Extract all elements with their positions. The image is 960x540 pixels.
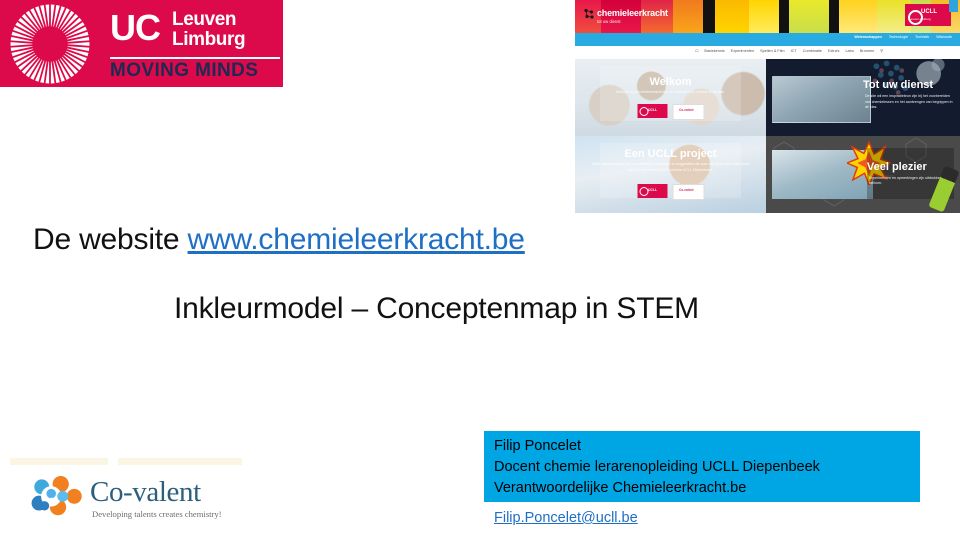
website-link[interactable]: www.chemieleerkracht.be bbox=[188, 223, 525, 256]
ucll-limburg-text: Limburg bbox=[172, 30, 245, 49]
site-main-nav-items[interactable]: ☖ Basiskennis Experimenten Spellen & Fil… bbox=[695, 49, 883, 54]
badge-sub: Leuven-Limburg bbox=[909, 18, 931, 21]
site-main-nav-item-7[interactable]: Bronnen bbox=[860, 49, 874, 54]
card-logos-ucll-project: UCLL Co-valent bbox=[637, 184, 704, 200]
card-title-tot-uw-dienst: Tot uw dienst bbox=[863, 79, 960, 91]
site-main-nav-item-1[interactable]: Experimenten bbox=[731, 49, 754, 54]
card-title-welkom: Welkom bbox=[575, 76, 766, 88]
ucll-divider bbox=[110, 57, 280, 59]
site-top-nav-item-1[interactable]: Technologie bbox=[889, 35, 908, 39]
site-main-nav-item-6[interactable]: Labo bbox=[845, 49, 853, 54]
molecule-icon bbox=[583, 8, 595, 20]
site-brand-name: chemieleerkracht bbox=[597, 8, 668, 18]
ucll-leuven-text: Leuven bbox=[172, 10, 236, 29]
ucll-tagline: MOVING MINDS bbox=[110, 61, 258, 81]
card-title-veel-plezier: Veel plezier bbox=[867, 161, 954, 173]
mini-ucll-logo: UCLL bbox=[637, 104, 667, 118]
site-top-nav-items[interactable]: Wetenschappen Technologie Techniek Wisku… bbox=[854, 35, 952, 39]
contact-role: Docent chemie lerarenopleiding UCLL Diep… bbox=[484, 457, 920, 478]
contact-email-link[interactable]: Filip.Poncelet@ucll.be bbox=[494, 509, 638, 528]
covalent-tagline: Developing talents creates chemistry! bbox=[92, 509, 222, 519]
site-cards: Welkom Welkom bij chemieleerkracht.be, e… bbox=[575, 59, 960, 213]
card-body-tot-uw-dienst: De site wil een inspiratiebron zijn bij … bbox=[865, 94, 954, 110]
mini-covalent-logo: Co-valent bbox=[672, 184, 704, 200]
badge-name: UCLL bbox=[921, 9, 937, 15]
site-banner: chemieleerkracht tot uw dienst UCLL Leuv… bbox=[575, 0, 960, 33]
radial-sunburst-icon bbox=[8, 2, 92, 86]
contact-responsibility: Verantwoordelijke Chemieleerkracht.be bbox=[484, 478, 920, 499]
mini-covalent-logo: Co-valent bbox=[672, 104, 704, 120]
covalent-top-strip bbox=[10, 458, 242, 465]
contact-name: Filip Poncelet bbox=[484, 431, 920, 457]
covalent-name: Co-valent bbox=[90, 476, 201, 508]
site-main-nav-item-4[interactable]: Combinatie bbox=[803, 49, 822, 54]
site-card-tot-uw-dienst[interactable]: Tot uw dienst De site wil een inspiratie… bbox=[766, 59, 960, 136]
card-photo-lab bbox=[772, 76, 871, 123]
site-main-nav-item-0[interactable]: Basiskennis bbox=[704, 49, 724, 54]
site-main-nav-item-3[interactable]: ICT bbox=[791, 49, 797, 54]
molecule-cluster-icon bbox=[30, 476, 86, 518]
contact-info-box: Filip Poncelet Docent chemie lerarenople… bbox=[484, 431, 920, 502]
site-main-nav-item-5[interactable]: Extra's bbox=[828, 49, 840, 54]
card-title-ucll-project: Een UCLL project bbox=[575, 148, 766, 160]
ucll-wordmark: UC Leuven Limburg bbox=[110, 8, 280, 56]
slide-line-1: De website www.chemieleerkracht.be bbox=[33, 221, 525, 259]
card-body-welkom: Welkom bij chemieleerkracht.be, een part… bbox=[590, 90, 750, 95]
card-logos-welkom: UCLL Co-valent bbox=[637, 104, 704, 120]
card-body-ucll-project: Deze website bevat heel wat didactisch m… bbox=[590, 162, 750, 173]
site-top-nav-item-2[interactable]: Techniek bbox=[915, 35, 929, 39]
site-brand-tagline: tot uw dienst bbox=[597, 19, 621, 24]
site-top-nav-item-3[interactable]: Wiskunde bbox=[936, 35, 952, 39]
site-card-ucll-project[interactable]: Een UCLL project Deze website bevat heel… bbox=[575, 136, 766, 213]
site-top-navbar: Wetenschappen Technologie Techniek Wisku… bbox=[575, 33, 960, 46]
website-screenshot: chemieleerkracht tot uw dienst UCLL Leuv… bbox=[575, 0, 960, 213]
covalent-logo: Co-valent Developing talents creates che… bbox=[10, 458, 242, 530]
home-icon[interactable]: ☖ bbox=[695, 49, 698, 54]
site-card-veel-plezier[interactable]: Veel plezier Experimenten en opmerkingen… bbox=[766, 136, 960, 213]
search-icon[interactable]: ⚲ bbox=[880, 49, 883, 54]
site-ucll-badge: UCLL Leuven-Limburg bbox=[905, 4, 951, 26]
site-main-navbar: ☖ Basiskennis Experimenten Spellen & Fil… bbox=[575, 46, 960, 60]
site-top-nav-item-0[interactable]: Wetenschappen bbox=[854, 35, 882, 39]
mini-ucll-logo: UCLL bbox=[637, 184, 667, 198]
ucll-uc-text: UC bbox=[110, 10, 160, 46]
slide-line-2: Inkleurmodel – Conceptenmap in STEM bbox=[174, 290, 699, 328]
site-main-nav-item-2[interactable]: Spellen & Film bbox=[760, 49, 784, 54]
site-flag-accent bbox=[949, 0, 958, 12]
slide-line-1-prefix: De website bbox=[33, 223, 188, 256]
site-card-welkom[interactable]: Welkom Welkom bij chemieleerkracht.be, e… bbox=[575, 59, 766, 136]
ucll-logo: UC Leuven Limburg MOVING MINDS bbox=[0, 0, 283, 87]
